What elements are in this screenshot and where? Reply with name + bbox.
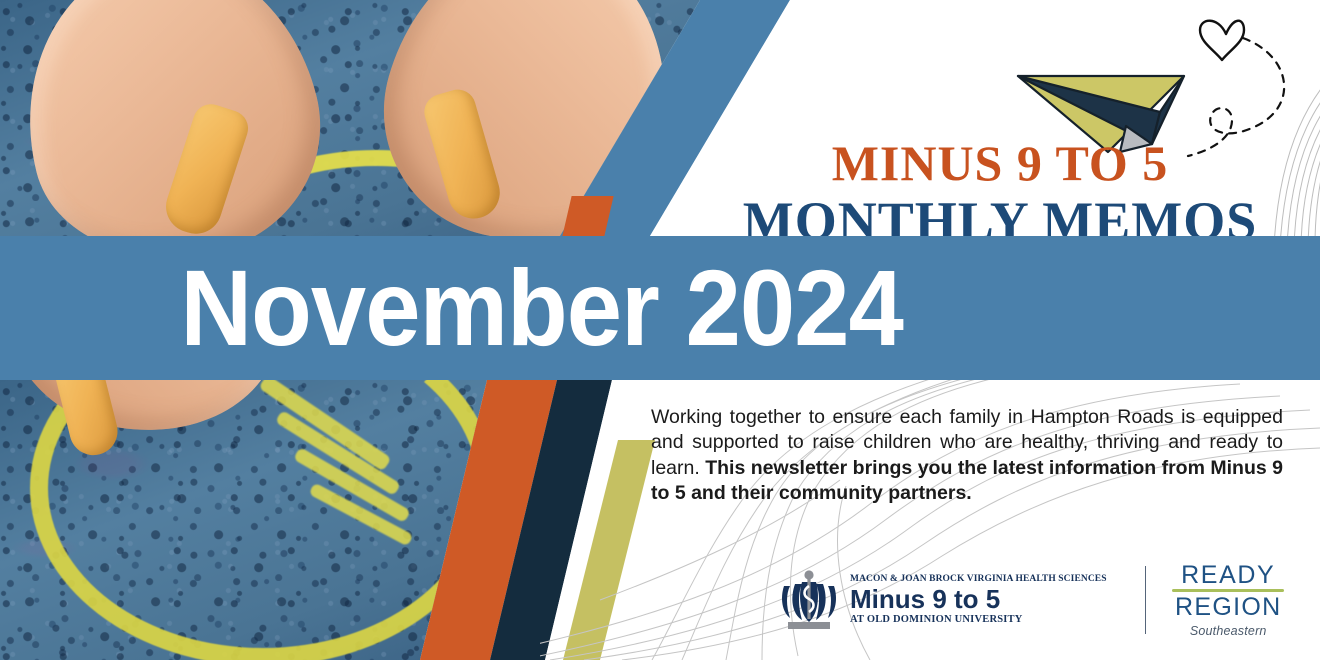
heart-icon <box>1200 21 1244 60</box>
top-section: MINUS 9 TO 5 MONTHLY MEMOS <box>0 0 1320 236</box>
bottom-section: Working together to ensure each family i… <box>0 380 1320 660</box>
ready-region-line3: Southeastern <box>1172 624 1284 638</box>
ready-region-rule <box>1172 589 1284 592</box>
title-line-minus: MINUS 9 TO 5 <box>680 138 1320 188</box>
intro-paragraph: Working together to ensure each family i… <box>651 405 1283 506</box>
month-label: November 2024 <box>0 254 903 362</box>
logo-row: MACON & JOAN BROCK VIRGINIA HEALTH SCIEN… <box>778 560 1248 640</box>
odu-logo-text: MACON & JOAN BROCK VIRGINIA HEALTH SCIEN… <box>850 574 1107 625</box>
logo-divider <box>1145 566 1147 634</box>
newsletter-header: MINUS 9 TO 5 MONTHLY MEMOS November 2024 <box>0 0 1320 660</box>
ready-region-line2: REGION <box>1172 594 1284 620</box>
odu-logo-line2: Minus 9 to 5 <box>850 586 1107 613</box>
masthead-title: MINUS 9 TO 5 MONTHLY MEMOS <box>680 138 1320 236</box>
ready-region-logo: READY REGION Southeastern <box>1172 562 1284 639</box>
intro-bold: This newsletter brings you the latest in… <box>651 457 1283 504</box>
odu-logo-line3: at OLD DOMINION UNIVERSITY <box>850 614 1107 626</box>
odu-minus-9-to-5-logo: MACON & JOAN BROCK VIRGINIA HEALTH SCIEN… <box>778 568 1107 632</box>
title-line-memos: MONTHLY MEMOS <box>680 194 1320 236</box>
crown-caduceus-icon <box>778 568 840 632</box>
month-banner: November 2024 <box>0 236 1320 380</box>
ready-region-line1: READY <box>1172 562 1284 588</box>
